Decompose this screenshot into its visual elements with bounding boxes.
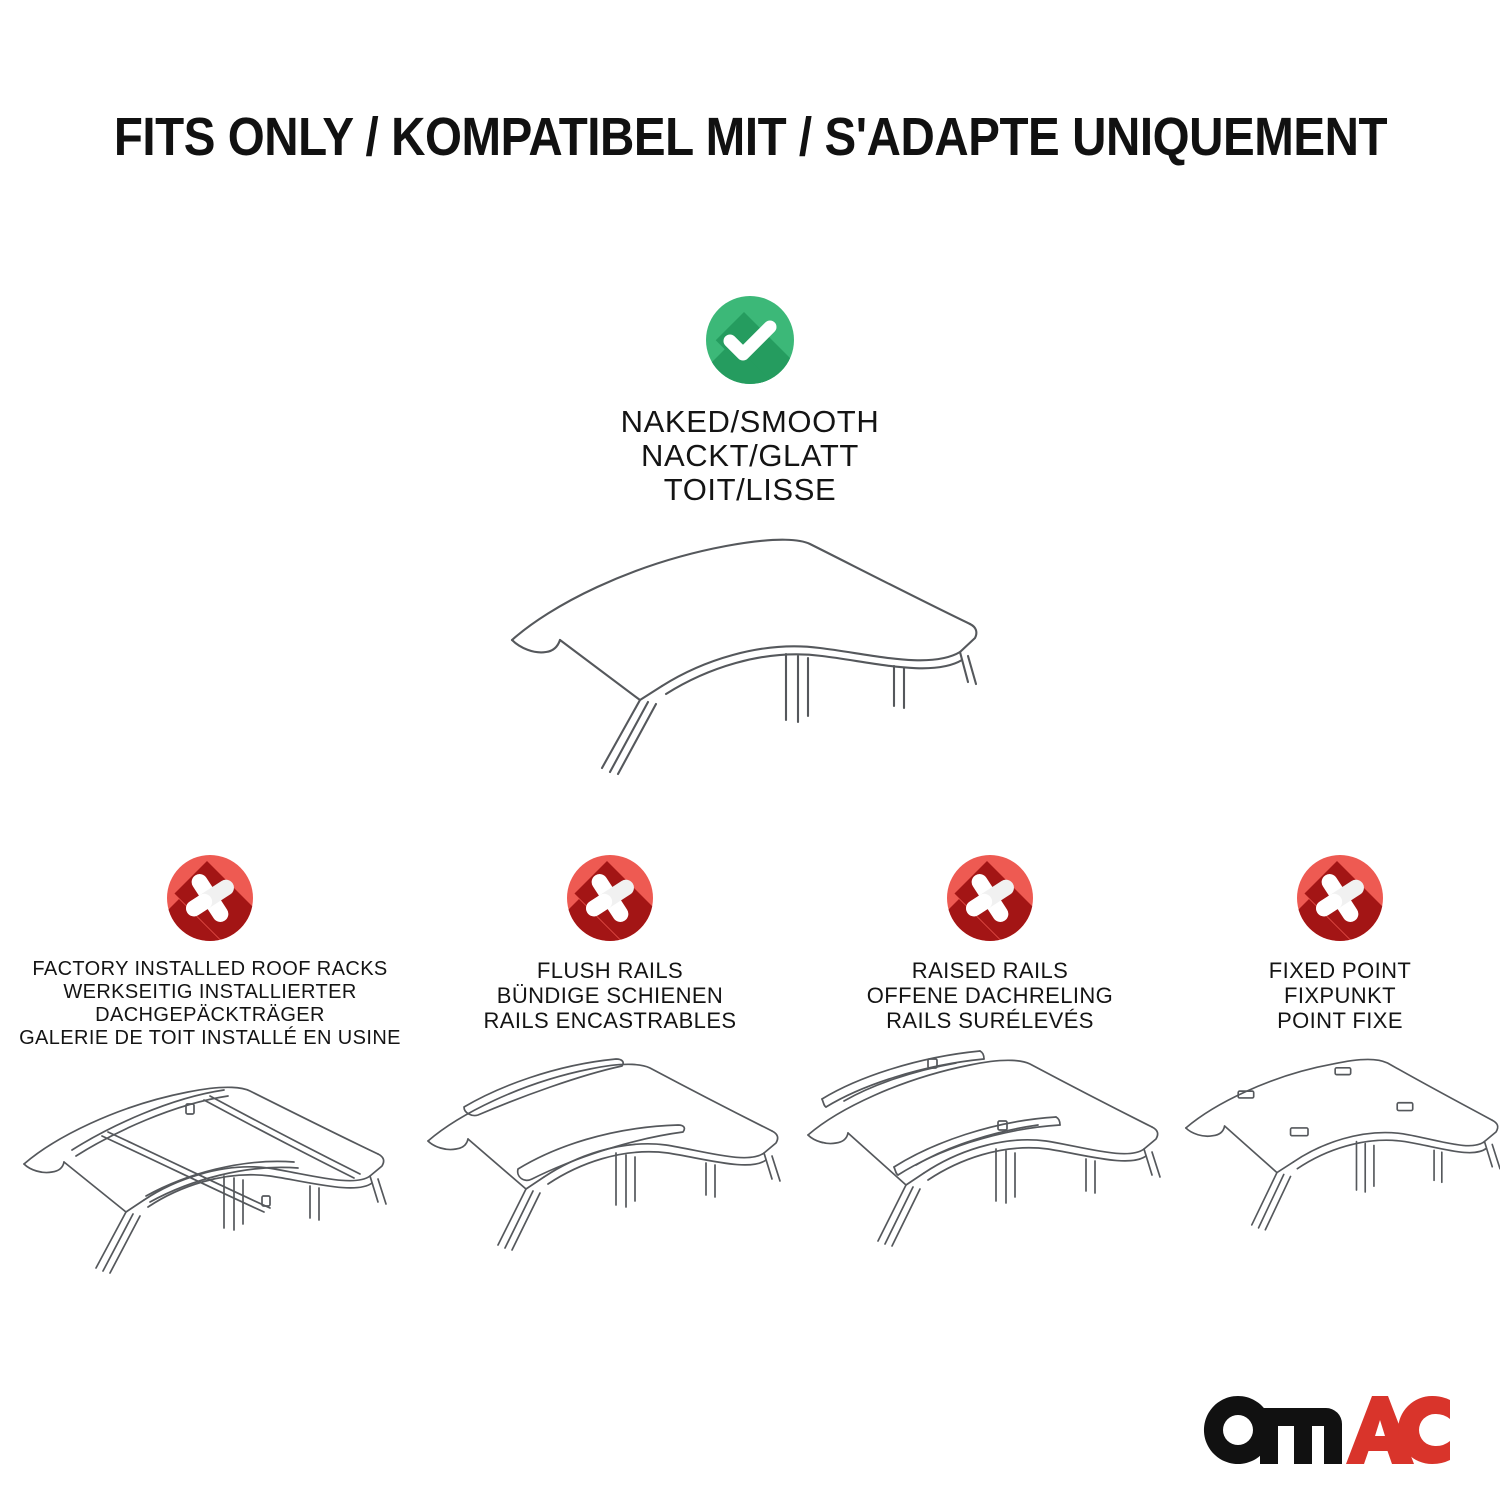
compatible-roof-labels: NAKED/SMOOTH NACKT/GLATT TOIT/LISSE: [0, 405, 1500, 507]
incompatible-item-factory-roof-racks: FACTORY INSTALLED ROOF RACKS WERKSEITIG …: [0, 855, 420, 1286]
check-mark-glyph: [706, 296, 794, 384]
compatible-label-fr: TOIT/LISSE: [0, 473, 1500, 507]
label-line-en: FIXED POINT: [1180, 958, 1500, 983]
incompatible-item-flush-rails: FLUSH RAILS BÜNDIGE SCHIENEN RAILS ENCAS…: [420, 855, 800, 1269]
car-roof-naked-smooth-illustration: [0, 520, 1500, 795]
raised-rails-drawing: [800, 1049, 1180, 1269]
label-line-de: OFFENE DACHRELING: [800, 983, 1180, 1008]
label-line-fr: GALERIE DE TOIT INSTALLÉ EN USINE: [0, 1027, 420, 1050]
car-roof-fixed-point-illustration: [1180, 1049, 1500, 1269]
omac-logo-text: OMAC: [1454, 1386, 1455, 1387]
incompatible-labels-factory-roof-racks: FACTORY INSTALLED ROOF RACKS WERKSEITIG …: [0, 958, 420, 1050]
incompatible-roof-types-row: FACTORY INSTALLED ROOF RACKS WERKSEITIG …: [0, 855, 1500, 1286]
x-mark-glyph: [1297, 855, 1383, 941]
flush-rails-drawing: [420, 1049, 800, 1269]
incompatible-labels-flush-rails: FLUSH RAILS BÜNDIGE SCHIENEN RAILS ENCAS…: [420, 958, 800, 1033]
label-line-de-1: WERKSEITIG INSTALLIERTER: [0, 981, 420, 1004]
x-circle-icon: [167, 855, 253, 941]
omac-logo: OMAC: [1194, 1386, 1454, 1472]
label-line-de: BÜNDIGE SCHIENEN: [420, 983, 800, 1008]
x-circle-icon: [1297, 855, 1383, 941]
label-line-fr: RAILS SURÉLEVÉS: [800, 1008, 1180, 1033]
x-mark-glyph: [567, 855, 653, 941]
compatible-roof-section: NAKED/SMOOTH NACKT/GLATT TOIT/LISSE: [0, 296, 1500, 507]
page-title: FITS ONLY / KOMPATIBEL MIT / S'ADAPTE UN…: [0, 106, 1500, 168]
label-line-en: FLUSH RAILS: [420, 958, 800, 983]
compatible-label-en: NAKED/SMOOTH: [0, 405, 1500, 439]
fixed-point-drawing: [1180, 1049, 1500, 1269]
label-line-fr: POINT FIXE: [1180, 1008, 1500, 1033]
label-line-fr: RAILS ENCASTRABLES: [420, 1008, 800, 1033]
car-roof-flush-rails-illustration: [420, 1049, 800, 1269]
check-circle-icon: [706, 296, 794, 384]
label-line-en: FACTORY INSTALLED ROOF RACKS: [0, 958, 420, 981]
incompatible-labels-raised-rails: RAISED RAILS OFFENE DACHRELING RAILS SUR…: [800, 958, 1180, 1033]
x-mark-glyph: [947, 855, 1033, 941]
car-roof-factory-roof-racks-illustration: [0, 1066, 420, 1286]
compatible-label-de: NACKT/GLATT: [0, 439, 1500, 473]
omac-logo-mark: [1194, 1386, 1454, 1472]
x-circle-icon: [947, 855, 1033, 941]
x-circle-icon: [567, 855, 653, 941]
label-line-en: RAISED RAILS: [800, 958, 1180, 983]
page-title-text: FITS ONLY / KOMPATIBEL MIT / S'ADAPTE UN…: [113, 106, 1386, 168]
incompatible-item-raised-rails: RAISED RAILS OFFENE DACHRELING RAILS SUR…: [800, 855, 1180, 1269]
logo-letter-m: [1260, 1408, 1342, 1464]
label-line-de: FIXPUNKT: [1180, 983, 1500, 1008]
incompatible-labels-fixed-point: FIXED POINT FIXPUNKT POINT FIXE: [1180, 958, 1500, 1033]
factory-roof-racks-drawing: [10, 1066, 410, 1286]
car-roof-raised-rails-illustration: [800, 1049, 1180, 1269]
naked-roof-drawing: [490, 520, 1010, 790]
incompatible-item-fixed-point: FIXED POINT FIXPUNKT POINT FIXE: [1180, 855, 1500, 1269]
x-mark-glyph: [167, 855, 253, 941]
label-line-de-2: DACHGEPÄCKTRÄGER: [0, 1004, 420, 1027]
